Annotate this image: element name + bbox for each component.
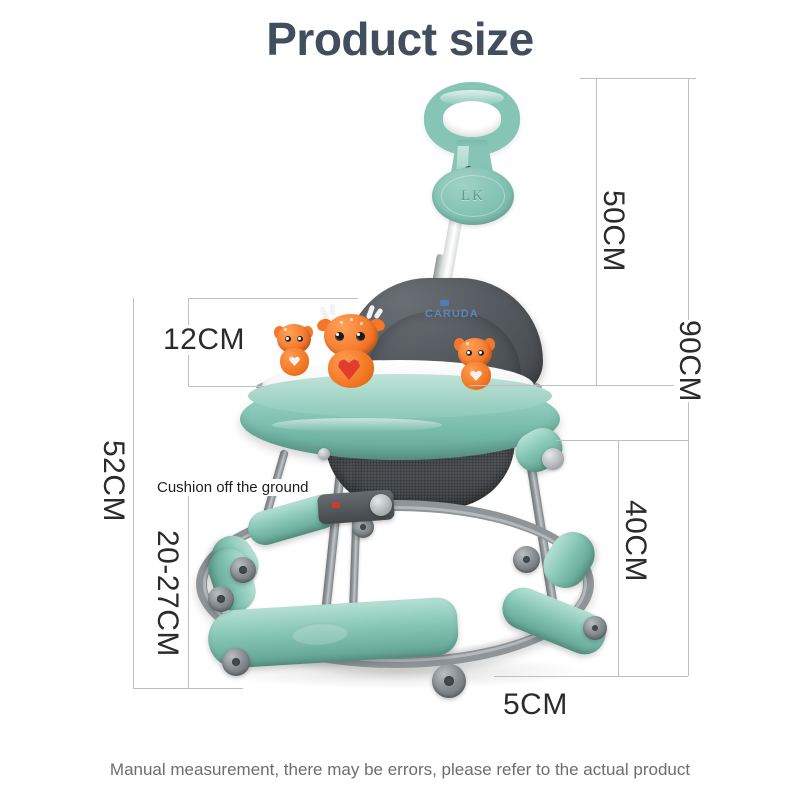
dimline-50-top [580,78,696,79]
height-adjust-knob-left [370,494,392,516]
dimension-label-90cm: 90CM [674,320,704,402]
dimline-40-top [556,440,688,441]
handle-grip-highlight [440,90,504,106]
handle-badge: LK [432,167,514,225]
dimline-50-bottom [470,385,688,386]
dimline-5-top [494,676,560,677]
dimension-label-40cm: 40CM [620,500,650,582]
tray-highlight [272,418,442,432]
dimline-52-vert [133,298,134,688]
wheel-front-left [222,648,250,676]
toy-deer-center [316,304,392,390]
handle-badge-label: LK [461,188,485,205]
brand-logo-mark [440,300,449,306]
tray-rim-top [248,374,552,418]
dimension-label-20-27cm: 20-27CM [152,530,182,657]
wheel-rear-left [230,557,256,583]
cushion-note: Cushion off the ground [155,479,311,496]
wheel-rear-right [513,546,540,573]
wheel-front-right [432,664,466,698]
dimline-90-bottom [560,676,688,677]
dimline-12-top [188,298,358,299]
fold-knob-right [542,448,564,470]
dimension-label-12cm: 12CM [163,325,245,355]
toy-bear-left [272,318,318,380]
dimension-label-5cm: 5CM [503,690,568,720]
dimension-label-50cm: 50CM [598,190,628,272]
product-size-diagram: Product size LK CARUDA [0,0,800,800]
handle-badge-ring: LK [441,175,505,217]
dimline-12-bottom [188,386,264,387]
release-button [332,502,340,508]
dimension-label-52cm: 52CM [98,440,128,522]
fold-knob-left [318,448,330,460]
dimline-52-bottom [133,688,243,689]
dimline-2027-vert [188,494,189,688]
wheel-side-left [208,586,234,612]
wheel-side-right [583,616,607,640]
brand-logo-text: CARUDA [425,308,479,320]
disclaimer-text: Manual measurement, there may be errors,… [0,760,800,780]
